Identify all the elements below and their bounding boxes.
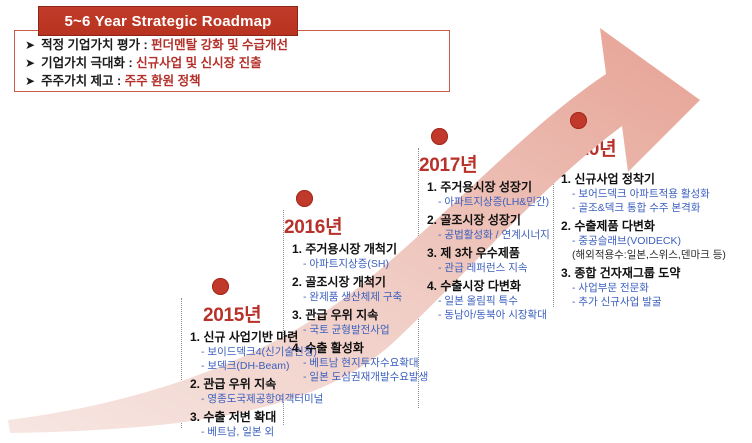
- bullet-row-2: ➤ 기업가치 극대화 : 신규사업 및 신시장 진출: [25, 55, 441, 72]
- list-item: 2. 수출제품 다변화 - 중공슬래브(VOIDECK) (해외적용수:일본,스…: [561, 219, 751, 262]
- milestone-content-2020: 1. 신규사업 정착기 - 보어드덱크 아파트적용 활성화 - 골조&덱크 통합…: [561, 172, 751, 313]
- arrow-bullet-icon: ➤: [25, 37, 35, 54]
- bullet-row-3: ➤ 주주가치 제고 : 주주 환원 정책: [25, 73, 441, 90]
- milestone-node-2016: [296, 190, 313, 207]
- list-item: 3. 수출 저변 확대 - 베트남, 일본 외: [190, 410, 360, 439]
- milestone-dot-icon: [212, 278, 229, 295]
- page-title: 5~6 Year Strategic Roadmap: [64, 13, 271, 30]
- slide-title-banner: 5~6 Year Strategic Roadmap: [38, 6, 298, 36]
- list-item: 3. 종합 건자재그룹 도약 - 사업부문 전문화 - 추가 신규사업 발굴: [561, 266, 751, 309]
- arrow-bullet-icon: ➤: [25, 55, 35, 72]
- milestone-dot-icon: [296, 190, 313, 207]
- milestone-dot-icon: [570, 112, 587, 129]
- summary-bullet-box: ➤ 적정 기업가치 평가 : 펀더멘탈 강화 및 수급개선 ➤ 기업가치 극대화…: [14, 30, 450, 92]
- bullet-text-3: 주주가치 제고 : 주주 환원 정책: [41, 73, 201, 90]
- milestone-node-2015: [212, 278, 229, 295]
- bullet-row-1: ➤ 적정 기업가치 평가 : 펀더멘탈 강화 및 수급개선: [25, 37, 441, 54]
- milestone-node-2020: [570, 112, 587, 129]
- milestone-node-2017: [431, 128, 448, 145]
- list-item: 1. 신규사업 정착기 - 보어드덱크 아파트적용 활성화 - 골조&덱크 통합…: [561, 172, 751, 215]
- bullet-text-1: 적정 기업가치 평가 : 펀더멘탈 강화 및 수급개선: [41, 37, 288, 54]
- bullet-text-2: 기업가치 극대화 : 신규사업 및 신시장 진출: [41, 55, 262, 72]
- milestone-dot-icon: [431, 128, 448, 145]
- arrow-bullet-icon: ➤: [25, 73, 35, 90]
- list-item: 4. 수출 활성화 - 베트남 현지투자수요확대 - 일본 도심권재개발수요발생: [292, 341, 467, 384]
- roadmap-slide: 5~6 Year Strategic Roadmap ➤ 적정 기업가치 평가 …: [0, 0, 752, 433]
